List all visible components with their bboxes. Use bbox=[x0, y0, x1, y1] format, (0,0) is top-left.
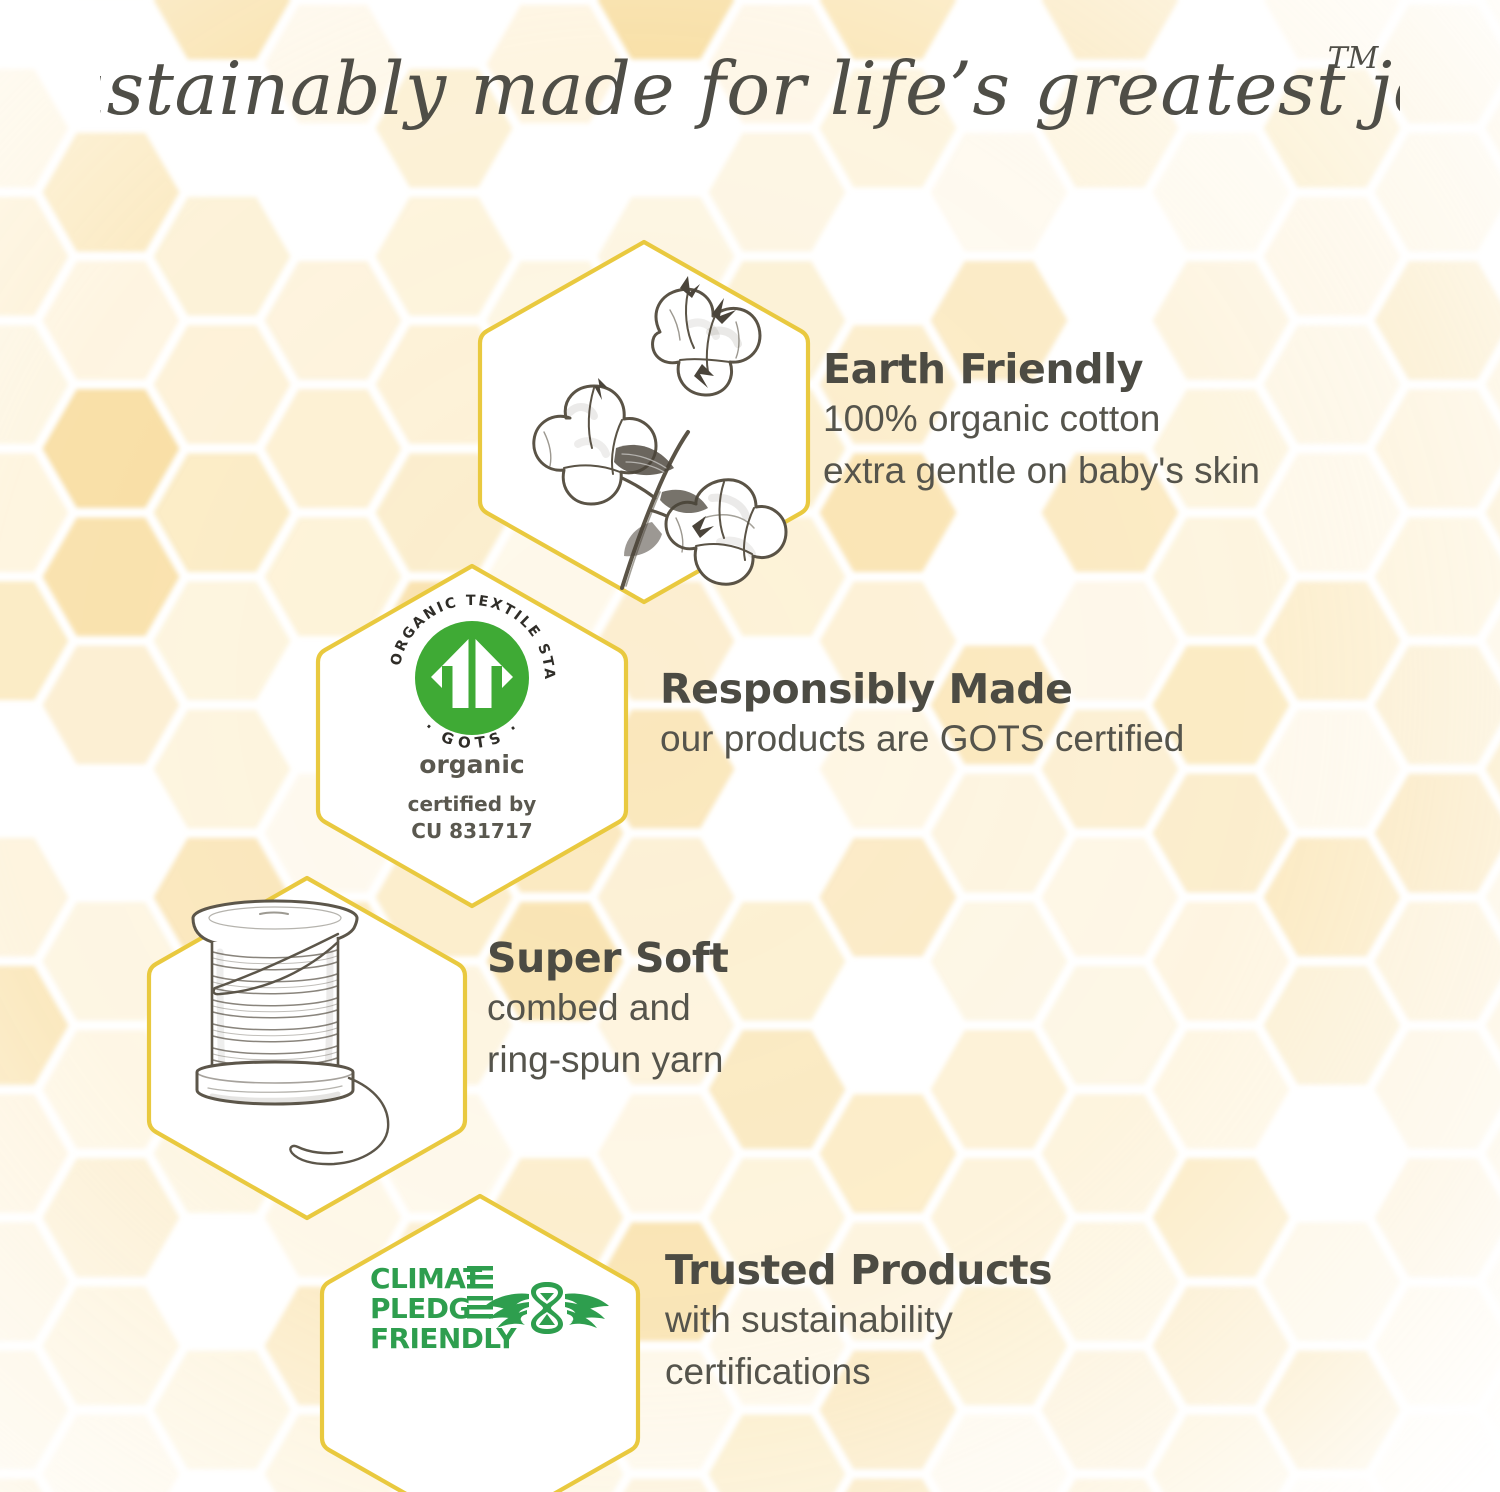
feature-hexagon-super-soft bbox=[142, 872, 472, 1224]
feature-hexagon-responsibly-made: GLOBAL ORGANIC TEXTILE STANDARD · GOTS ·… bbox=[312, 560, 632, 912]
feature-body-line: certifications bbox=[665, 1348, 1052, 1396]
feature-body-line: combed and bbox=[487, 984, 729, 1032]
cpf-line-2: PLEDG bbox=[370, 1292, 471, 1325]
feature-hexagon-trusted-products: CLIMAT PLEDG FRIENDLY bbox=[315, 1190, 645, 1490]
feature-hexagon-earth-friendly bbox=[474, 236, 814, 608]
feature-body-line: ring-spun yarn bbox=[487, 1036, 729, 1084]
feature-heading: Super Soft bbox=[487, 937, 729, 980]
feature-heading: Trusted Products bbox=[665, 1249, 1052, 1292]
feature-body-line: with sustainability bbox=[665, 1296, 1052, 1344]
feature-text-responsibly-made: Responsibly Made our products are GOTS c… bbox=[660, 668, 1184, 763]
feature-heading: Earth Friendly bbox=[823, 348, 1260, 391]
page-headline: sustainably made for life’s greatest joy… bbox=[0, 34, 1500, 144]
cpf-line-1: CLIMAT bbox=[370, 1262, 482, 1295]
feature-body-line: our products are GOTS certified bbox=[660, 715, 1184, 763]
feature-text-super-soft: Super Soft combed and ring-spun yarn bbox=[487, 937, 729, 1084]
gots-organic-label: organic bbox=[419, 750, 524, 779]
feature-body-line: extra gentle on baby's skin bbox=[823, 447, 1260, 495]
feature-text-earth-friendly: Earth Friendly 100% organic cotton extra… bbox=[823, 348, 1260, 495]
sustainability-infographic: sustainably made for life’s greatest joy… bbox=[0, 0, 1500, 1492]
feature-heading: Responsibly Made bbox=[660, 668, 1184, 711]
headline-script-text: sustainably made for life’s greatest joy bbox=[100, 47, 1400, 132]
gots-certified-by-label: certified by bbox=[408, 792, 537, 816]
feature-body-line: 100% organic cotton bbox=[823, 395, 1260, 443]
trademark-symbol: TM bbox=[1328, 41, 1380, 76]
cpf-line-3: FRIENDLY bbox=[370, 1322, 517, 1355]
feature-text-trusted-products: Trusted Products with sustainability cer… bbox=[665, 1249, 1052, 1396]
gots-certificate-number: CU 831717 bbox=[411, 819, 532, 843]
